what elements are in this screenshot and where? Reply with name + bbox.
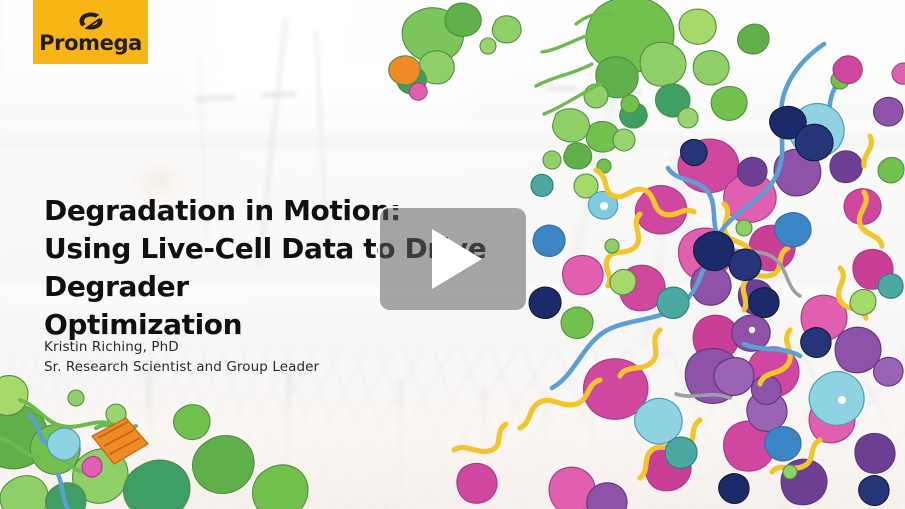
- promega-wordmark: Promega: [39, 33, 142, 54]
- play-triangle-icon: [432, 229, 482, 289]
- presenter-role: Sr. Research Scientist and Group Leader: [44, 357, 319, 377]
- play-button[interactable]: [378, 206, 528, 312]
- promega-ring-icon: [78, 11, 104, 31]
- video-player[interactable]: Promega Degradation in Motion: Using Liv…: [0, 0, 905, 509]
- presenter-name: Kristin Riching, PhD: [44, 337, 319, 357]
- promega-logo[interactable]: Promega: [33, 0, 148, 64]
- presenter-byline: Kristin Riching, PhD Sr. Research Scient…: [44, 337, 319, 377]
